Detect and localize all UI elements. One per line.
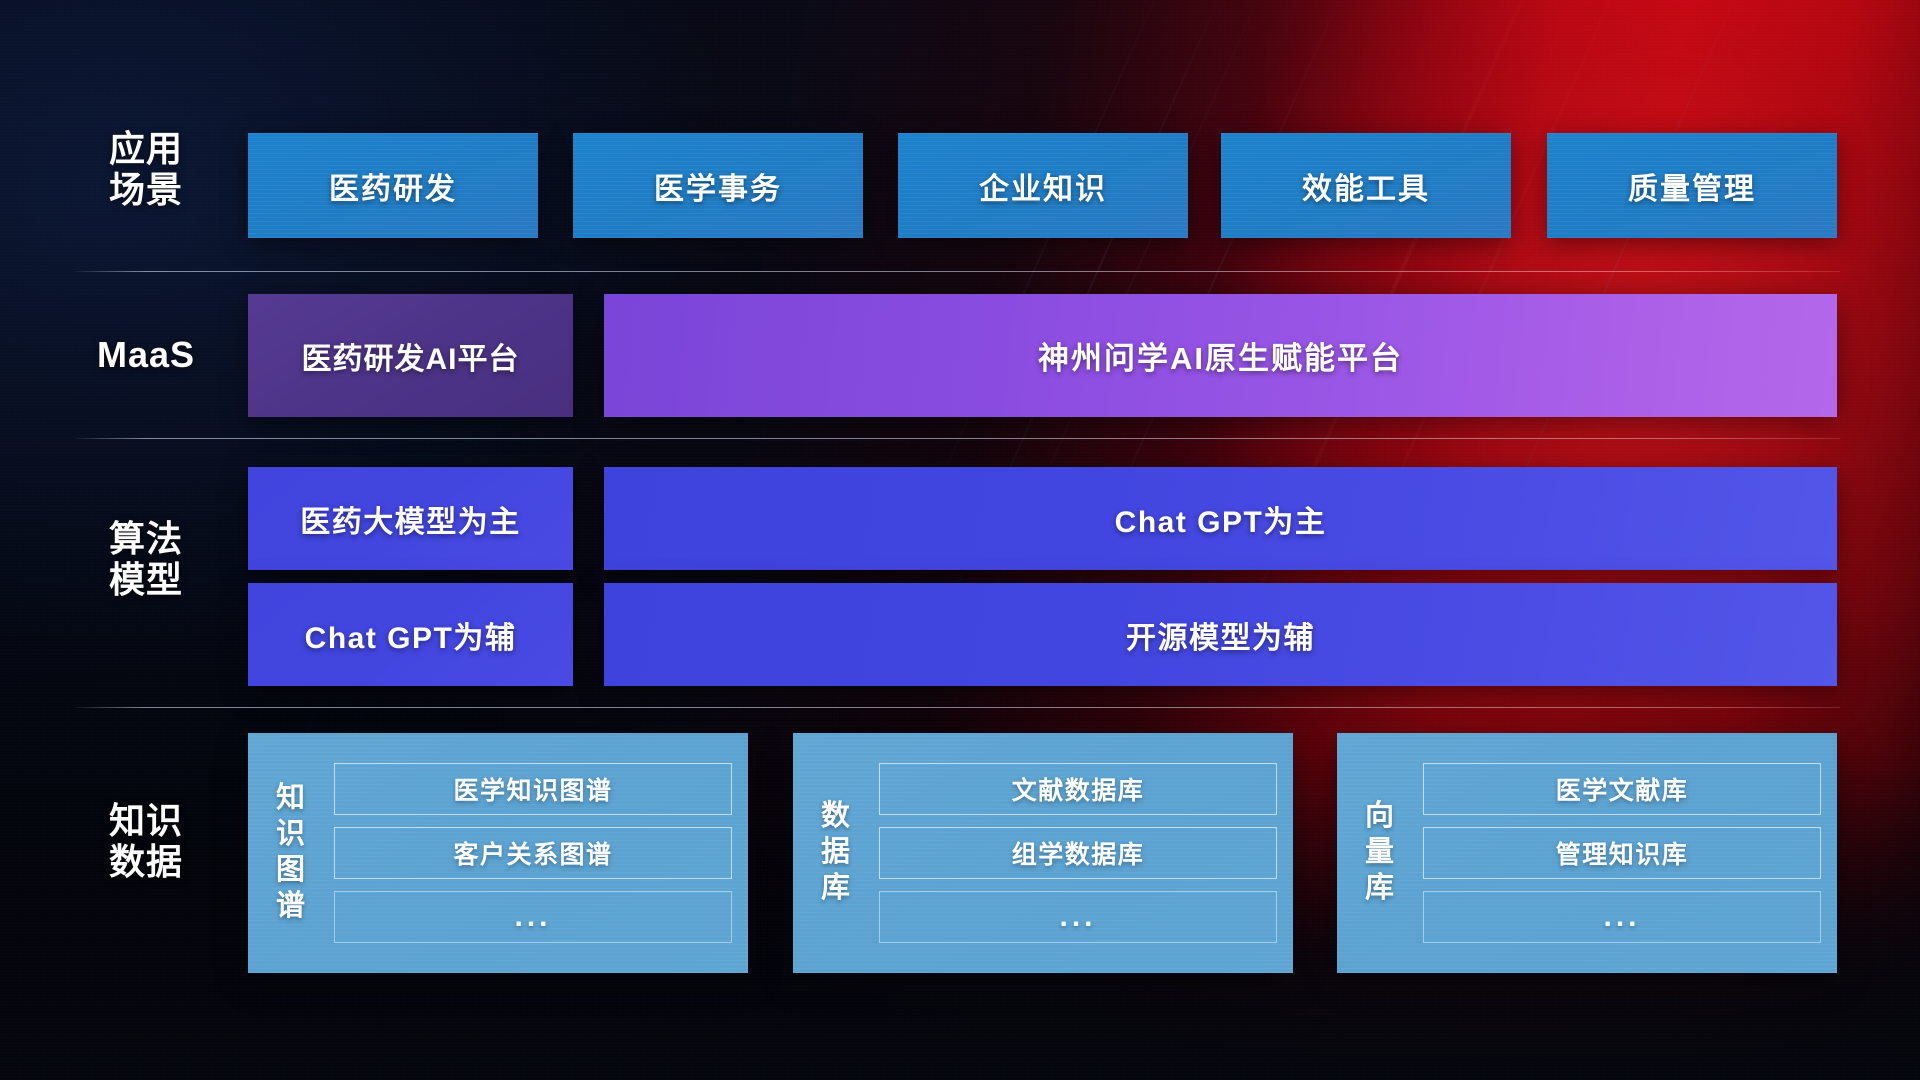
kd-item-medical-literature-library[interactable]: 医学文献库 [1423, 763, 1821, 815]
knowledge-group-title-database: 数 据 库 [793, 799, 879, 907]
app-card-efficiency-tools[interactable]: 效能工具 [1221, 133, 1511, 238]
row-label-kd-line-1: 知识 [78, 800, 214, 841]
row-label-line-2: 场景 [78, 169, 214, 210]
kd-title-char: 识 [276, 817, 306, 853]
kd-title-char: 谱 [276, 889, 306, 925]
kd-item-customer-relation-graph[interactable]: 客户关系图谱 [334, 827, 732, 879]
knowledge-group-database[interactable]: 数 据 库 文献数据库 组学数据库 ... [793, 733, 1293, 973]
kd-title-char: 库 [1365, 871, 1395, 907]
kd-item-more-knowledge-graph[interactable]: ... [334, 891, 732, 943]
row-label-maas-text: MaaS [78, 334, 214, 375]
algo-card-opensource-secondary[interactable]: 开源模型为辅 [604, 583, 1837, 686]
row-label-knowledge-data: 知识 数据 [78, 800, 214, 882]
row-label-algorithm-model: 算法 模型 [78, 518, 214, 600]
kd-title-char: 库 [821, 871, 851, 907]
app-card-medical-affairs[interactable]: 医学事务 [573, 133, 863, 238]
knowledge-group-items-vector-database: 医学文献库 管理知识库 ... [1423, 763, 1821, 943]
app-card-quality-management[interactable]: 质量管理 [1547, 133, 1837, 238]
kd-title-char: 向 [1365, 799, 1395, 835]
app-card-enterprise-knowledge[interactable]: 企业知识 [898, 133, 1188, 238]
knowledge-group-items-knowledge-graph: 医学知识图谱 客户关系图谱 ... [334, 763, 732, 943]
divider-maas-algorithm [75, 438, 1840, 439]
divider-application-maas [75, 271, 1840, 272]
kd-title-char: 数 [821, 799, 851, 835]
row-label-algo-line-2: 模型 [78, 559, 214, 600]
kd-item-more-vector-database[interactable]: ... [1423, 891, 1821, 943]
algo-card-medicine-large-model-primary[interactable]: 医药大模型为主 [248, 467, 573, 570]
kd-item-more-database[interactable]: ... [879, 891, 1277, 943]
kd-item-literature-database[interactable]: 文献数据库 [879, 763, 1277, 815]
kd-title-char: 据 [821, 835, 851, 871]
row-label-maas: MaaS [78, 334, 214, 375]
divider-algorithm-knowledge [75, 707, 1840, 708]
maas-card-shenzhou-wenxue-platform[interactable]: 神州问学AI原生赋能平台 [604, 294, 1837, 417]
kd-item-medical-knowledge-graph[interactable]: 医学知识图谱 [334, 763, 732, 815]
kd-item-omics-database[interactable]: 组学数据库 [879, 827, 1277, 879]
row-label-line-1: 应用 [78, 128, 214, 169]
knowledge-group-knowledge-graph[interactable]: 知 识 图 谱 医学知识图谱 客户关系图谱 ... [248, 733, 748, 973]
app-card-medicine-rd[interactable]: 医药研发 [248, 133, 538, 238]
kd-title-char: 图 [276, 853, 306, 889]
kd-item-management-knowledge-library[interactable]: 管理知识库 [1423, 827, 1821, 879]
row-label-application-scenario: 应用 场景 [78, 128, 214, 210]
row-label-kd-line-2: 数据 [78, 841, 214, 882]
knowledge-group-items-database: 文献数据库 组学数据库 ... [879, 763, 1277, 943]
kd-title-char: 知 [276, 781, 306, 817]
knowledge-group-title-knowledge-graph: 知 识 图 谱 [248, 781, 334, 925]
knowledge-group-title-vector-database: 向 量 库 [1337, 799, 1423, 907]
knowledge-group-vector-database[interactable]: 向 量 库 医学文献库 管理知识库 ... [1337, 733, 1837, 973]
algo-card-chatgpt-secondary[interactable]: Chat GPT为辅 [248, 583, 573, 686]
maas-card-medicine-ai-platform[interactable]: 医药研发AI平台 [248, 294, 573, 417]
row-label-algo-line-1: 算法 [78, 518, 214, 559]
algo-card-chatgpt-primary[interactable]: Chat GPT为主 [604, 467, 1837, 570]
architecture-diagram: 应用 场景 医药研发 医学事务 企业知识 效能工具 质量管理 MaaS 医药研发… [0, 0, 1920, 1080]
kd-title-char: 量 [1365, 835, 1395, 871]
